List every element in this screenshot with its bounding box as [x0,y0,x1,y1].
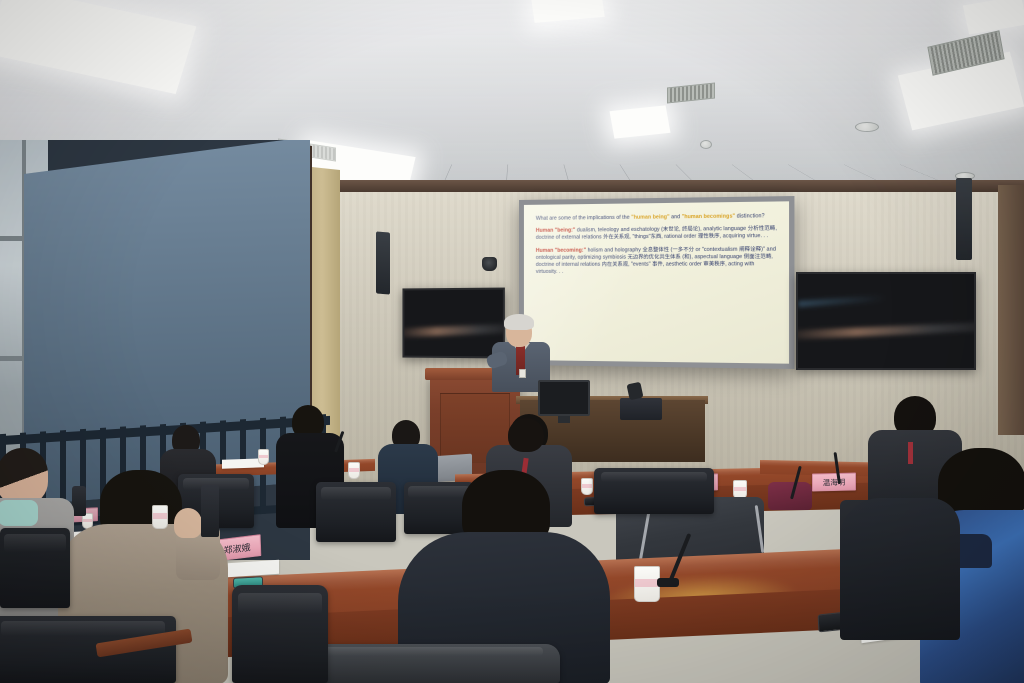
chair-highlight [238,593,322,615]
presenter-name-badge [519,369,526,378]
stage-microphone-icon [626,382,643,401]
wall-speaker [956,178,972,260]
person-torso [840,498,960,640]
person-head [508,418,544,452]
office-chair [316,482,396,542]
seated-audience-member [840,470,960,640]
paper-cup [258,449,269,465]
tv-screen-glare-secondary [798,294,886,306]
thermos-bottle [201,485,219,537]
chair-highlight [601,472,707,482]
chair-highlight [1,621,165,636]
presentation-slide: What are some of the implications of the… [524,201,789,363]
slide-paragraph-being: Human "being:" dualism, teleology and es… [536,226,778,243]
ceiling-speaker-icon [855,122,879,132]
wall-speaker [376,231,390,294]
presenter-at-podium [492,317,554,389]
tv-screen-glare [796,321,976,340]
presenter-hair [504,314,534,330]
office-chair [0,528,70,608]
projection-screen-surface: What are some of the implications of the… [524,201,789,363]
stage-chair [620,398,662,420]
person-head [0,448,48,504]
office-chair [232,585,328,683]
microphone-base [657,578,679,587]
wall-camera-icon [482,257,497,271]
seated-audience-member [488,418,566,498]
chair-highlight [4,534,66,552]
ceiling-speaker-icon [700,140,712,149]
projection-screen: What are some of the implications of the… [519,196,794,369]
slide-paragraph-becoming: Human "becoming:" holism and holography … [536,246,778,276]
paper-cup [348,462,360,479]
person-hand [174,508,202,538]
wall-corner-post [998,185,1024,435]
office-chair [0,616,176,683]
wall-mounted-television-right [796,272,976,370]
ceiling-light-panel [610,105,671,138]
tv-screen-glare [402,323,504,337]
person-lanyard [908,442,913,464]
office-chair [594,468,714,514]
presenter-monitor [538,380,590,416]
chair-highlight [299,647,544,656]
wall-mounted-television-left [402,288,504,359]
wall-top-trim [300,180,1024,192]
person-scarf [0,500,38,526]
paper-cup [152,505,168,529]
chair-highlight [321,487,391,500]
conference-room-photo: What are some of the implications of the… [0,0,1024,683]
slide-question: What are some of the implications of the… [536,213,778,223]
